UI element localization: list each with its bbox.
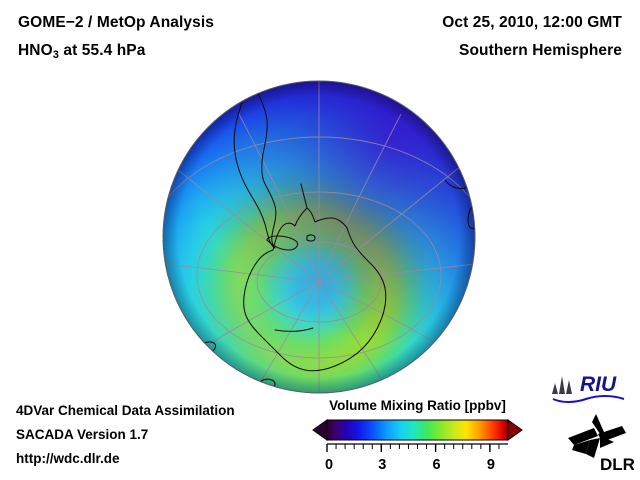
globe-map	[155, 80, 485, 396]
colorbar-tick-label: 9	[487, 457, 495, 473]
riu-wordmark: RIU	[580, 373, 617, 396]
riu-logo: RIU	[552, 372, 634, 406]
hemisphere-label: Southern Hemisphere	[459, 42, 622, 60]
colorbar-tick-label: 0	[325, 457, 333, 473]
timestamp-label: Oct 25, 2010, 12:00 GMT	[442, 14, 622, 32]
colorbar-title: Volume Mixing Ratio [ppbv]	[305, 398, 530, 413]
colorbar-over-arrow	[508, 420, 522, 440]
footer-version-line: SACADA Version 1.7	[16, 427, 148, 442]
colorbar-tick-label: 3	[378, 457, 386, 473]
visualization-page: GOME−2 / MetOp Analysis HNO3 at 55.4 hPa…	[0, 0, 640, 480]
colorbar-minor-ticks	[336, 444, 499, 449]
limb-shading	[163, 81, 475, 393]
species-formula-text: HNO	[18, 42, 53, 59]
colorbar: Volume Mixing Ratio [ppbv]	[305, 398, 530, 476]
colorbar-gradient-bar	[327, 420, 508, 440]
colorbar-svg: 0 3 6 9	[305, 418, 530, 476]
riu-tower-icon	[552, 376, 572, 394]
orthographic-projection-svg	[155, 80, 485, 396]
species-level-label: HNO3 at 55.4 hPa	[18, 42, 145, 60]
colorbar-tick-labels: 0 3 6 9	[325, 457, 495, 473]
dlr-mark-icon	[568, 414, 626, 458]
dlr-logo: DLR	[560, 412, 634, 474]
footer-url-line[interactable]: http://wdc.dlr.de	[16, 451, 120, 466]
footer-method-line: 4DVar Chemical Data Assimilation	[16, 403, 235, 418]
colorbar-under-arrow	[313, 420, 327, 440]
dlr-wordmark: DLR	[600, 455, 634, 474]
pressure-level-text: at 55.4 hPa	[59, 42, 146, 59]
species-subscript: 3	[53, 49, 59, 61]
colorbar-tick-label: 6	[433, 457, 441, 473]
riu-wave-icon	[553, 396, 624, 402]
page-title: GOME−2 / MetOp Analysis	[18, 14, 214, 32]
